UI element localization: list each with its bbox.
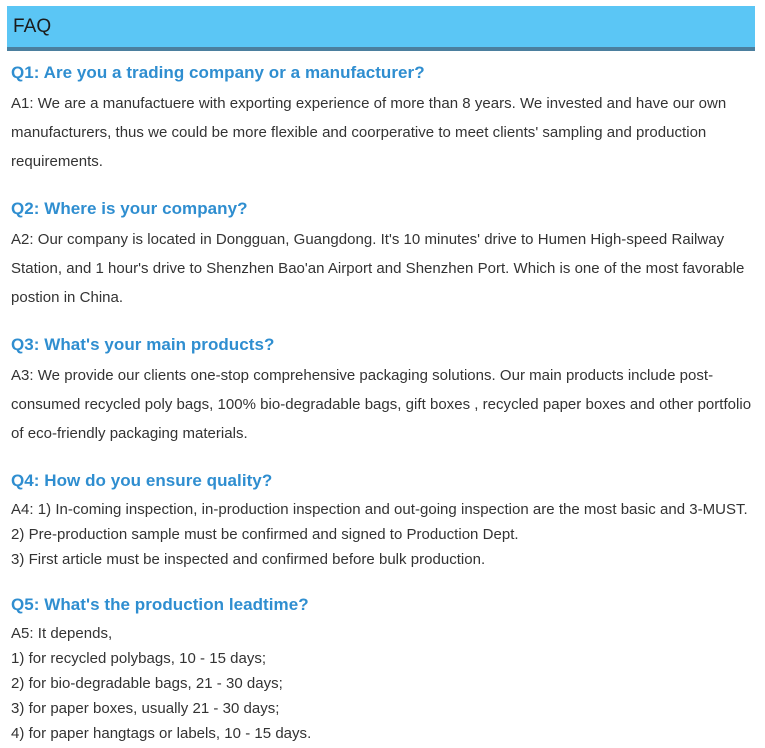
faq-answer-line: 2) Pre-production sample must be confirm…	[11, 522, 753, 547]
faq-item-q3: Q3: What's your main products? A3: We pr…	[11, 334, 753, 448]
page-title: FAQ	[7, 17, 51, 36]
faq-answer-line: A5: It depends,	[11, 621, 753, 646]
faq-answer-q1: A1: We are a manufactuere with exporting…	[11, 89, 753, 176]
faq-question-q2: Q2: Where is your company?	[11, 198, 753, 221]
faq-question-q3: Q3: What's your main products?	[11, 334, 753, 357]
faq-answer-line: 4) for paper hangtags or labels, 10 - 15…	[11, 721, 753, 746]
faq-answer-line: 3) for paper boxes, usually 21 - 30 days…	[11, 696, 753, 721]
faq-answer-q4: A4: 1) In-coming inspection, in-producti…	[11, 497, 753, 572]
faq-answer-line: 1) for recycled polybags, 10 - 15 days;	[11, 646, 753, 671]
faq-answer-q3: A3: We provide our clients one-stop comp…	[11, 361, 753, 448]
faq-item-q2: Q2: Where is your company? A2: Our compa…	[11, 198, 753, 312]
faq-page: FAQ Q1: Are you a trading company or a m…	[0, 0, 765, 748]
faq-answer-line: 3) First article must be inspected and c…	[11, 547, 753, 572]
faq-answer-line: A4: 1) In-coming inspection, in-producti…	[11, 497, 753, 522]
faq-item-q5: Q5: What's the production leadtime? A5: …	[11, 594, 753, 746]
faq-answer-q2: A2: Our company is located in Dongguan, …	[11, 225, 753, 312]
faq-answer-q5: A5: It depends,1) for recycled polybags,…	[11, 621, 753, 746]
faq-list: Q1: Are you a trading company or a manuf…	[11, 62, 753, 746]
faq-answer-line: 2) for bio-degradable bags, 21 - 30 days…	[11, 671, 753, 696]
faq-question-q1: Q1: Are you a trading company or a manuf…	[11, 62, 753, 85]
faq-question-q5: Q5: What's the production leadtime?	[11, 594, 753, 617]
faq-question-q4: Q4: How do you ensure quality?	[11, 470, 753, 493]
faq-item-q1: Q1: Are you a trading company or a manuf…	[11, 62, 753, 176]
faq-header-bar: FAQ	[7, 6, 755, 51]
faq-item-q4: Q4: How do you ensure quality? A4: 1) In…	[11, 470, 753, 572]
